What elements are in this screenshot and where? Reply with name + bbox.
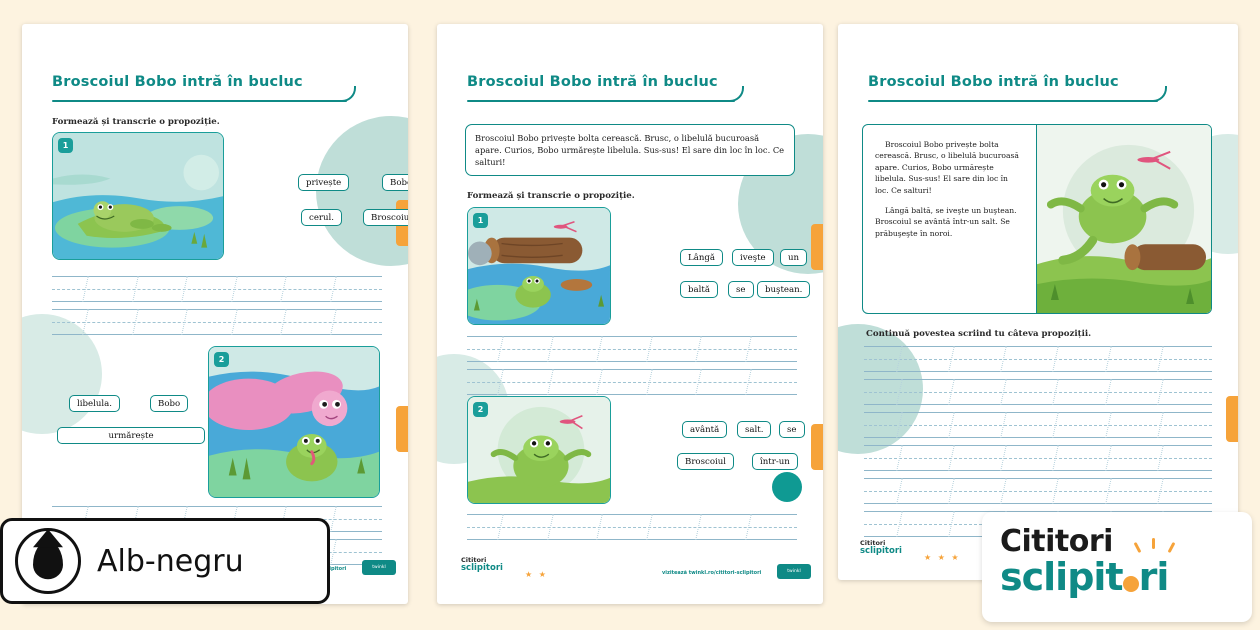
footer-logo: Cititori sclipitori <box>461 557 503 572</box>
word-card[interactable]: într-un <box>752 453 798 470</box>
page-title: Broscoiul Bobo intră în bucluc <box>868 74 1119 90</box>
twinkl-badge: twinkl <box>777 564 811 579</box>
sparkle-icon <box>1152 538 1155 549</box>
title-rule <box>52 100 347 102</box>
decor-tab <box>1226 396 1238 442</box>
word-card[interactable]: se <box>779 421 805 438</box>
instruction-text: Continuă povestea scriind tu câteva prop… <box>866 329 1091 339</box>
word-card[interactable]: Bobo <box>382 174 408 191</box>
title-rule <box>467 100 735 102</box>
page-title: Broscoiul Bobo intră în bucluc <box>467 74 718 90</box>
story-box: Broscoiul Bobo privește bolta cerească. … <box>465 124 795 176</box>
brand-dot-icon <box>1123 576 1139 592</box>
illustration-frame-1 <box>1037 125 1211 313</box>
brand-card[interactable]: Cititori sclipitri <box>982 512 1252 622</box>
word-card[interactable]: avântă <box>682 421 727 438</box>
screenshot-stage: Broscoiul Bobo intră în bucluc Formează … <box>0 0 1260 630</box>
instruction-text: Formează și transcrie o propoziție. <box>52 117 220 127</box>
page-title: Broscoiul Bobo intră în bucluc <box>52 74 303 90</box>
footer-url[interactable]: vizitează twinkl.ro/cititori-sclipitori <box>662 570 761 576</box>
difficulty-stars: ★ ★ <box>525 570 548 579</box>
illustration-frame-2: 2 <box>208 346 380 498</box>
word-card[interactable]: Bobo <box>150 395 188 412</box>
alb-negru-badge[interactable]: Alb-negru <box>0 518 330 604</box>
writing-lines[interactable] <box>467 336 797 402</box>
log-at-pond-illustration <box>468 208 610 324</box>
decor-circle <box>772 472 802 502</box>
decor-tab <box>811 224 823 270</box>
word-card[interactable]: se <box>728 281 754 298</box>
difficulty-stars: ★ ★ ★ <box>924 553 961 562</box>
footer-logo: Cititori sclipitori <box>860 540 902 555</box>
ink-drop-icon <box>15 528 81 594</box>
brand-line2-pre: sclipit <box>1000 555 1123 599</box>
brand-line2: sclipitri <box>1000 558 1234 596</box>
decor-tab <box>396 406 408 452</box>
title-hook <box>340 86 356 102</box>
footer-logo-line2: sclipitori <box>461 564 503 573</box>
writing-lines[interactable] <box>467 514 797 547</box>
worksheet-page-2[interactable]: Broscoiul Bobo intră în bucluc Broscoiul… <box>437 24 823 604</box>
worksheet-page-1[interactable]: Broscoiul Bobo intră în bucluc Formează … <box>22 24 408 604</box>
image-number-badge: 1 <box>58 138 73 153</box>
title-rule <box>868 100 1158 102</box>
brand-line2-post: ri <box>1139 555 1169 599</box>
title-hook <box>1151 86 1167 102</box>
word-card[interactable]: buştean. <box>757 281 810 298</box>
twinkl-badge: twinkl <box>362 560 396 575</box>
alb-negru-label: Alb-negru <box>97 544 244 579</box>
word-card[interactable]: iveşte <box>732 249 774 266</box>
footer-logo-line2: sclipitori <box>860 547 902 556</box>
word-card[interactable]: salt. <box>737 421 771 438</box>
word-card[interactable]: un <box>780 249 807 266</box>
decor-blob <box>316 116 408 266</box>
image-number-badge: 1 <box>473 213 488 228</box>
illustration-frame-1: 1 <box>467 207 611 325</box>
word-card[interactable]: Lângă <box>680 249 723 266</box>
word-card[interactable]: Broscoiul <box>677 453 734 470</box>
illustration-frame-2: 2 <box>467 396 611 504</box>
word-card[interactable]: urmărește <box>57 427 205 444</box>
writing-lines[interactable] <box>52 276 382 342</box>
worksheet-page-3[interactable]: Broscoiul Bobo intră în bucluc Broscoiul… <box>838 24 1238 580</box>
image-number-badge: 2 <box>214 352 229 367</box>
word-card[interactable]: privește <box>298 174 349 191</box>
jumping-frog-illustration <box>468 397 610 504</box>
story-panel-box: Broscoiul Bobo privește bolta cerească. … <box>862 124 1212 314</box>
story-text-panel: Broscoiul Bobo privește bolta cerească. … <box>863 125 1037 313</box>
instruction-text: Formează și transcrie o propoziție. <box>467 191 635 201</box>
word-card[interactable]: cerul. <box>301 209 342 226</box>
title-hook <box>728 86 744 102</box>
decor-tab <box>811 424 823 470</box>
story-paragraph: Broscoiul Bobo privește bolta cerească. … <box>875 139 1024 196</box>
word-card[interactable]: baltă <box>680 281 718 298</box>
dragonfly-and-frog-illustration <box>209 347 379 497</box>
illustration-frame-1: 1 <box>52 132 224 260</box>
frog-on-lily-illustration <box>53 133 223 260</box>
word-card[interactable]: libelula. <box>69 395 120 412</box>
image-number-badge: 2 <box>473 402 488 417</box>
frog-leap-illustration <box>1037 125 1211 314</box>
story-paragraph: Lângă baltă, se iveşte un buştean. Brosc… <box>875 205 1024 239</box>
brand-line1: Cititori <box>1000 526 1234 558</box>
word-card[interactable]: Broscoiul <box>363 209 408 226</box>
